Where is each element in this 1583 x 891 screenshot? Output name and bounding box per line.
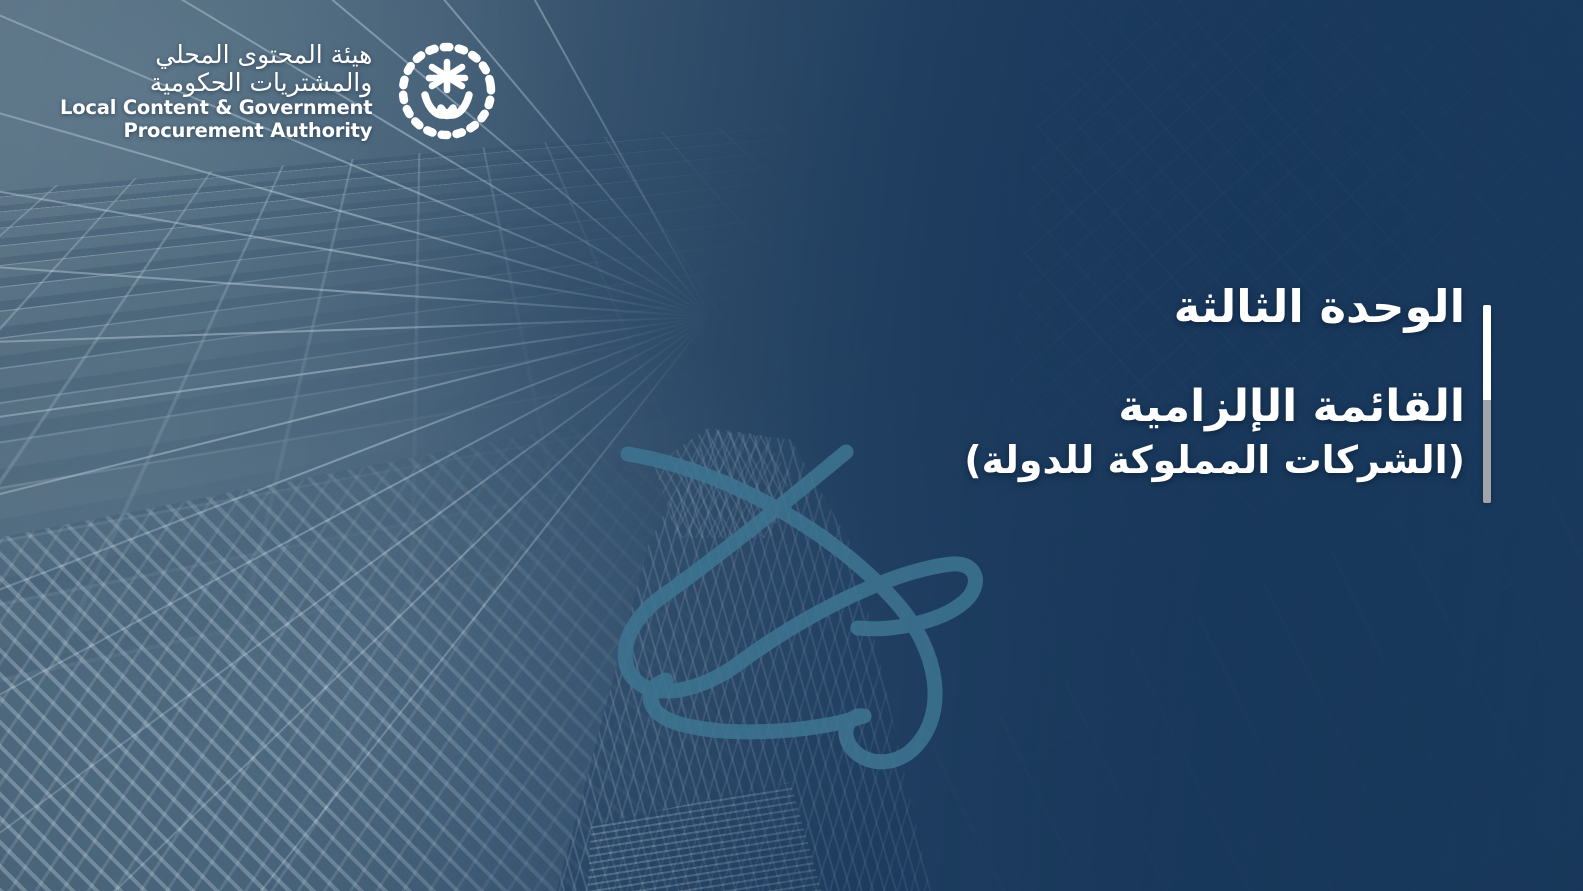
- main-title-line: القائمة الإلزامية: [825, 382, 1465, 431]
- title-block: الوحدة الثالثة القائمة الإلزامية (الشركا…: [825, 282, 1465, 482]
- subtitle-line: (الشركات المملوكة للدولة): [825, 438, 1465, 483]
- title-slide: هيئة المحتوى المحلي والمشتريات الحكومية …: [0, 0, 1583, 891]
- lcgpa-emblem-watermark: [596, 432, 986, 782]
- logo-wordmark: هيئة المحتوى المحلي والمشتريات الحكومية …: [60, 41, 372, 140]
- logo-arabic-line-2: والمشتريات الحكومية: [60, 69, 372, 96]
- title-divider: [1483, 305, 1491, 503]
- logo-arabic-line-1: هيئة المحتوى المحلي: [60, 41, 372, 68]
- logo-lockup: هيئة المحتوى المحلي والمشتريات الحكومية …: [60, 38, 500, 144]
- logo-english-line-1: Local Content & Government: [60, 97, 372, 118]
- unit-title-line: الوحدة الثالثة: [825, 282, 1465, 332]
- logo-english-line-2: Procurement Authority: [60, 120, 372, 141]
- saudi-palm-emblem-icon: [394, 38, 500, 144]
